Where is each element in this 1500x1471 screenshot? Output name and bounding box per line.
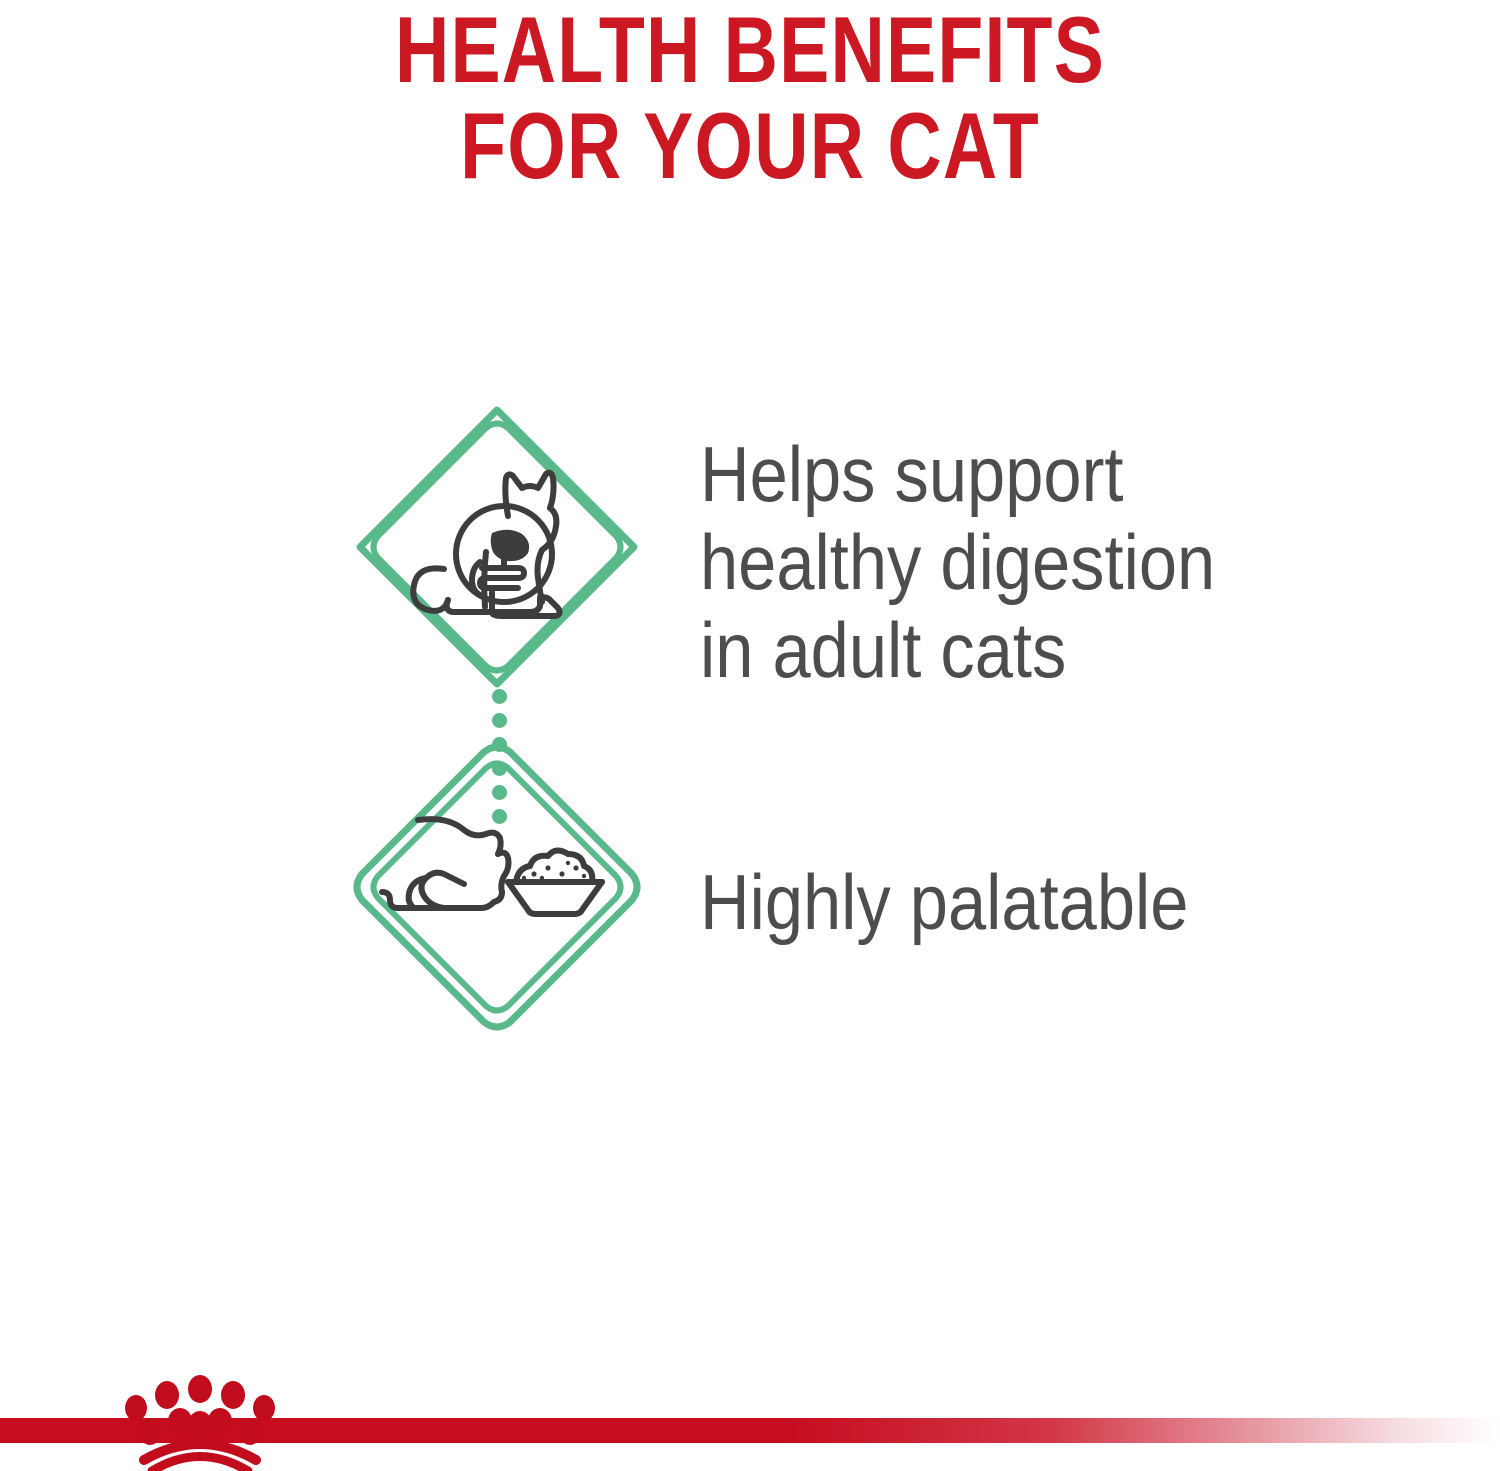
benefit-item-palatable: Highly palatable — [0, 732, 1500, 1072]
benefit-text-cell: Helps support healthy digestion in adult… — [700, 430, 1500, 694]
benefit-icon-cell — [0, 392, 700, 732]
page-title-line-1: HEALTH BENEFITS — [150, 2, 1350, 98]
connector-dot — [492, 785, 507, 800]
page-title-line-2: FOR YOUR CAT — [150, 98, 1350, 194]
royal-canin-crown-logo — [110, 1368, 290, 1471]
page-title: HEALTH BENEFITS FOR YOUR CAT — [0, 0, 1500, 194]
benefit-label-palatable: Highly palatable — [700, 858, 1364, 946]
benefit-text-cell: Highly palatable — [700, 858, 1500, 946]
benefit-item-digestion: Helps support healthy digestion in adult… — [0, 392, 1500, 732]
benefits-list: Helps support healthy digestion in adult… — [0, 392, 1500, 1072]
connector-dot — [492, 689, 507, 704]
dotted-connector — [489, 689, 509, 829]
benefit-icon-cell — [0, 732, 700, 1072]
connector-dot — [492, 737, 507, 752]
connector-dot — [492, 809, 507, 824]
footer — [0, 1350, 1500, 1471]
benefit-label-digestion: Helps support healthy digestion in adult… — [700, 430, 1364, 694]
connector-dot — [492, 761, 507, 776]
health-benefits-page: HEALTH BENEFITS FOR YOUR CAT — [0, 0, 1500, 1471]
cat-digestion-icon — [352, 402, 642, 692]
connector-dot — [492, 713, 507, 728]
